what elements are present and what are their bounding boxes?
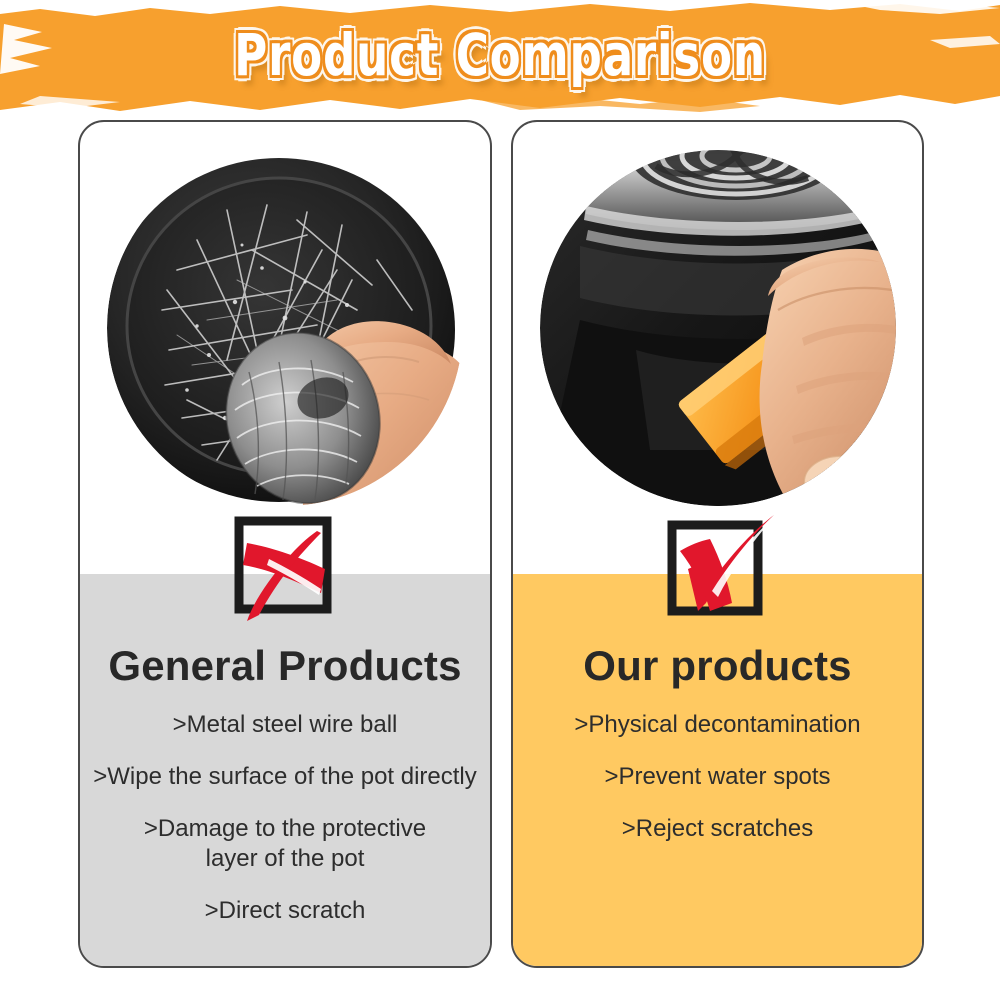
- panel-ours-bullets: >Physical decontamination >Prevent water…: [521, 710, 914, 866]
- panel-general-products: General Products >Metal steel wire ball …: [78, 120, 492, 968]
- list-item: >Direct scratch: [88, 896, 482, 926]
- red-cross-icon: [225, 507, 345, 627]
- page-title: Product Comparison: [110, 22, 890, 88]
- list-item: >Damage to the protective layer of the p…: [88, 814, 482, 874]
- list-item: >Wipe the surface of the pot directly: [88, 762, 482, 792]
- list-item: >Prevent water spots: [521, 762, 914, 792]
- scratched-pan-steel-wool-photo: [107, 150, 463, 506]
- orange-cleaning-block-pot-photo: [540, 150, 896, 506]
- panel-general-heading: General Products: [80, 642, 490, 690]
- list-item: >Metal steel wire ball: [88, 710, 482, 740]
- list-item: >Reject scratches: [521, 814, 914, 844]
- list-item: >Physical decontamination: [521, 710, 914, 740]
- red-check-icon: [658, 507, 778, 627]
- panel-ours-heading: Our products: [513, 642, 922, 690]
- panel-our-products: Our products >Physical decontamination >…: [511, 120, 924, 968]
- panel-general-bullets: >Metal steel wire ball >Wipe the surface…: [88, 710, 482, 948]
